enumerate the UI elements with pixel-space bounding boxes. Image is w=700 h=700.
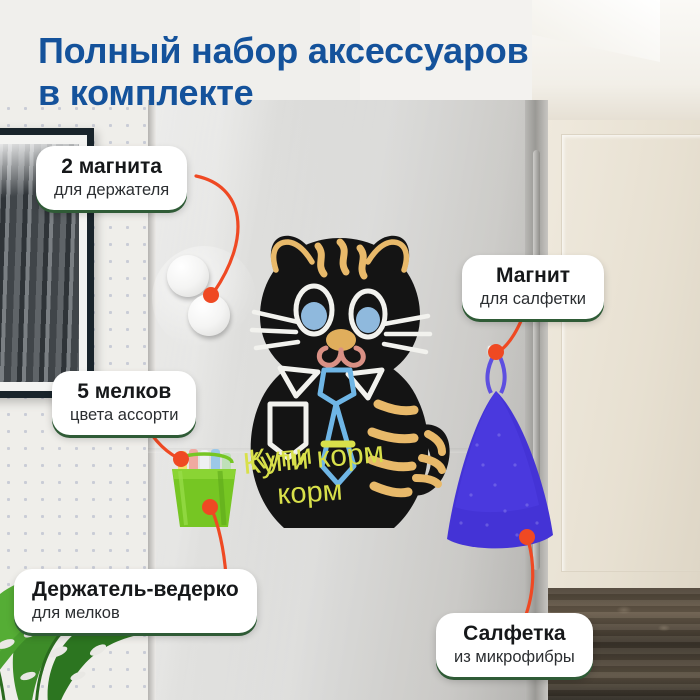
page-title: Полный набор аксессуаров в комплекте xyxy=(38,30,658,114)
callout-holder-subtitle: для мелков xyxy=(32,604,239,624)
line-to-holder xyxy=(212,510,226,576)
title-line-2: в комплекте xyxy=(38,72,658,114)
dot-holder xyxy=(202,499,218,515)
dot-napkin xyxy=(519,529,535,545)
callout-cloth-magnet[interactable]: Магнит для салфетки xyxy=(462,255,604,319)
callout-napkin-subtitle: из микрофибры xyxy=(454,648,575,668)
line-to-napkin xyxy=(524,540,533,620)
dot-magnets xyxy=(203,287,219,303)
callout-magnets[interactable]: 2 магнита для держателя xyxy=(36,146,187,210)
callout-chalks-title: 5 мелков xyxy=(70,380,178,404)
callout-holder-title: Держатель-ведерко xyxy=(32,578,239,602)
callout-holder[interactable]: Держатель-ведерко для мелков xyxy=(14,569,257,633)
line-to-magnets xyxy=(196,176,238,292)
callout-napkin-title: Салфетка xyxy=(454,622,575,646)
dot-cloth-magnet xyxy=(488,344,504,360)
callout-cloth-magnet-title: Магнит xyxy=(480,264,586,288)
callout-magnets-subtitle: для держателя xyxy=(54,181,169,201)
callout-chalks[interactable]: 5 мелков цвета ассорти xyxy=(52,371,196,435)
callout-napkin[interactable]: Салфетка из микрофибры xyxy=(436,613,593,677)
callout-chalks-subtitle: цвета ассорти xyxy=(70,406,178,426)
callout-magnets-title: 2 магнита xyxy=(54,155,169,179)
dot-chalks xyxy=(173,451,189,467)
infographic-scene: Купи корм Купи корм xyxy=(0,0,700,700)
title-line-1: Полный набор аксессуаров xyxy=(38,30,658,72)
callout-cloth-magnet-subtitle: для салфетки xyxy=(480,290,586,310)
